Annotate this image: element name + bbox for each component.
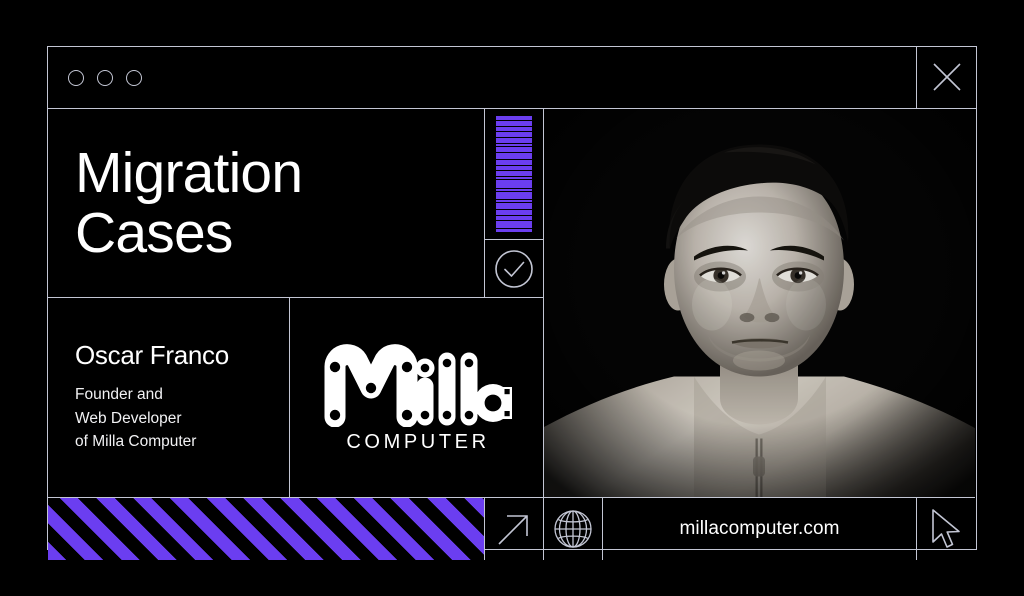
window-control-dots <box>68 70 142 86</box>
barcode-bar <box>496 200 532 202</box>
barcode-bar <box>496 150 532 152</box>
slide-canvas: Migration Cases Oscar Franco Founder <box>0 0 1024 596</box>
barcode-bar <box>496 203 532 209</box>
speaker-info-cell: Oscar Franco Founder and Web Developer o… <box>48 298 290 498</box>
barcode-bar <box>496 177 532 179</box>
speaker-name: Oscar Franco <box>75 340 289 371</box>
portrait-image <box>544 109 975 497</box>
check-cell <box>485 240 544 298</box>
speaker-role: Founder and Web Developer of Milla Compu… <box>75 383 289 454</box>
headline-cell: Migration Cases <box>48 109 485 298</box>
barcode-bar <box>496 171 532 173</box>
window-dot-3[interactable] <box>126 70 142 86</box>
page-title: Migration Cases <box>75 143 302 264</box>
barcode-bar <box>496 196 532 199</box>
milla-wordmark-icon <box>321 341 513 427</box>
close-icon <box>930 60 964 94</box>
barcode-bar <box>496 147 532 150</box>
globe-button[interactable] <box>544 498 603 560</box>
barcode-bar <box>496 229 532 232</box>
barcode-bar <box>496 216 532 220</box>
barcode-bar <box>496 166 532 170</box>
barcode-bar <box>496 189 532 191</box>
website-url-field[interactable]: millacomputer.com <box>603 498 917 560</box>
barcode-cell <box>485 109 544 240</box>
barcode-bar <box>496 153 532 159</box>
barcode-bar <box>496 124 532 126</box>
barcode-bar <box>496 144 532 146</box>
speaker-photo <box>544 109 975 498</box>
arrow-up-right-icon <box>494 509 534 549</box>
barcode-icon <box>496 116 532 232</box>
external-link-button[interactable] <box>485 498 544 560</box>
window-dot-2[interactable] <box>97 70 113 86</box>
barcode-bar <box>496 127 532 131</box>
footer-bar: millacomputer.com <box>48 498 976 560</box>
mouse-cursor-icon <box>928 507 966 551</box>
barcode-bar <box>496 121 532 124</box>
barcode-bar <box>496 180 532 185</box>
check-circle-icon <box>494 249 534 289</box>
decorative-stripes <box>48 498 485 560</box>
barcode-bar <box>496 134 532 137</box>
brand-logo-cell: COMPUTER <box>290 298 544 498</box>
brand-subtitle: COMPUTER <box>346 431 489 454</box>
window-dot-1[interactable] <box>68 70 84 86</box>
barcode-bar <box>496 192 532 196</box>
barcode-bar <box>496 213 532 215</box>
barcode-bar <box>496 163 532 165</box>
window-titlebar <box>48 47 976 109</box>
cursor-indicator[interactable] <box>917 498 976 560</box>
barcode-bar <box>496 223 532 228</box>
left-column: Migration Cases Oscar Franco Founder <box>48 109 544 498</box>
window-frame: Migration Cases Oscar Franco Founder <box>47 46 977 550</box>
barcode-bar <box>496 116 532 120</box>
window-body: Migration Cases Oscar Franco Founder <box>48 109 976 549</box>
barcode-bar <box>496 185 532 188</box>
barcode-bar <box>496 221 532 223</box>
barcode-bar <box>496 132 532 134</box>
barcode-bar <box>496 160 532 163</box>
globe-icon <box>552 508 594 550</box>
barcode-bar <box>496 210 532 213</box>
barcode-bar <box>496 173 532 176</box>
website-url-text: millacomputer.com <box>679 518 839 540</box>
close-button[interactable] <box>916 47 976 108</box>
barcode-bar <box>496 138 532 143</box>
